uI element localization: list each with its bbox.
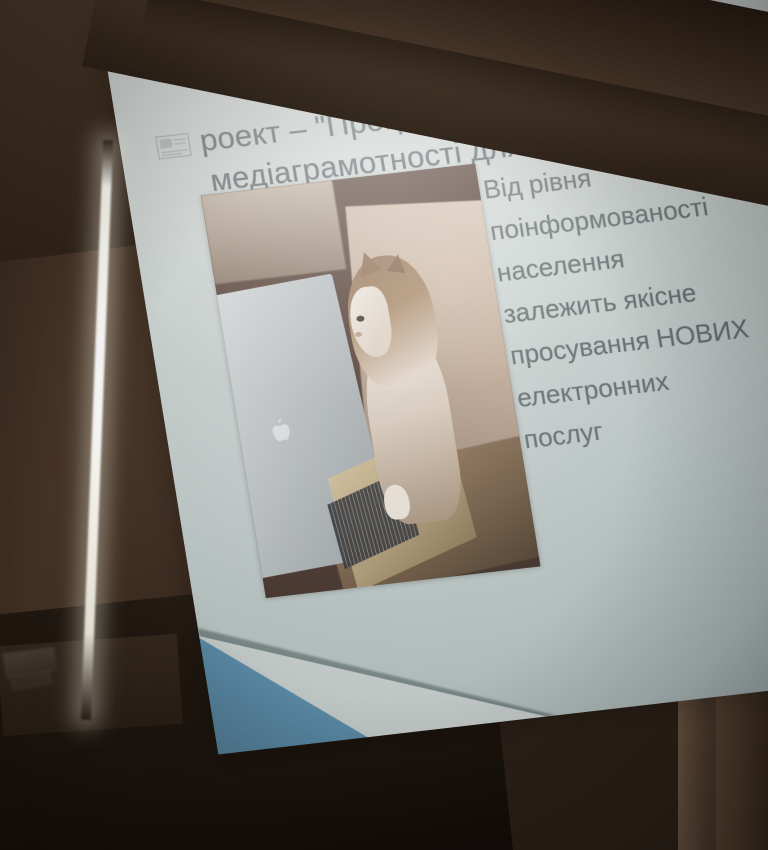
projected-slide-photo-scene: роект – "Програма медіаграмотності для г… [0,0,768,850]
cat-eye [356,316,365,323]
apple-logo-icon [264,415,296,449]
cat-head [339,251,446,394]
cat-nose [355,332,363,338]
slide-decoration-blue-triangle [199,621,367,755]
image-placeholder-icon [155,132,194,166]
power-cable [370,579,417,596]
cat-ear-left [354,249,382,276]
cat-face [345,285,396,359]
cat-ear-right [387,253,407,273]
photo-upper-wall [201,180,347,284]
